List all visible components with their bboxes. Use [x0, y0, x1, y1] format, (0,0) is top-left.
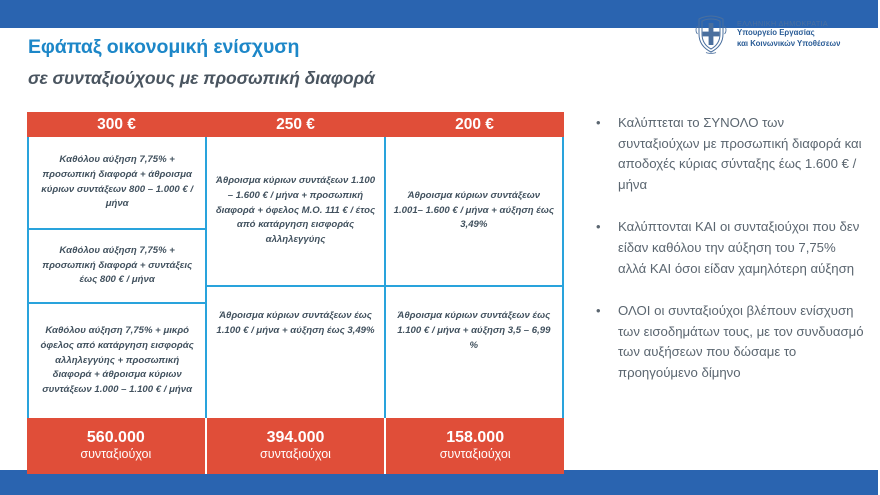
table-column-200: Άθροισμα κύριων συντάξεων 1.001– 1.600 €… [386, 137, 562, 418]
list-item-text: Καλύπτεται το ΣΥΝΟΛΟ των συνταξιούχων με… [618, 113, 866, 195]
table-footer-count-200: 158.000 συνταξιούχοι [386, 418, 564, 474]
pensioner-count: 560.000 [87, 429, 145, 447]
pensioner-label: συνταξιούχοι [80, 447, 151, 463]
table-cell: Άθροισμα κύριων συντάξεων 1.001– 1.600 €… [386, 137, 562, 287]
table-body: Καθόλου αύξηση 7,75% + προσωπική διαφορά… [27, 137, 564, 418]
page-subtitle: σε συνταξιούχους με προσωπική διαφορά [28, 68, 375, 89]
pensioner-count: 394.000 [267, 429, 325, 447]
bullet-marker-icon: • [596, 217, 618, 279]
list-item: • ΟΛΟΙ οι συνταξιούχοι βλέπουν ενίσχυση … [596, 301, 866, 383]
table-header-amount-300: 300 € [27, 112, 206, 137]
logo-line-ministry-cont: και Κοινωνικών Υποθέσεων [737, 39, 840, 49]
table-cell: Άθροισμα κύριων συντάξεων έως 1.100 € / … [386, 287, 562, 418]
pensioner-label: συνταξιούχοι [440, 447, 511, 463]
table-column-250: Άθροισμα κύριων συντάξεων 1.100 – 1.600 … [207, 137, 385, 418]
bullet-marker-icon: • [596, 301, 618, 383]
table-header-amount-200: 200 € [385, 112, 564, 137]
greek-coat-of-arms-icon [694, 14, 728, 54]
table-footer-count-250: 394.000 συνταξιούχοι [207, 418, 387, 474]
bullet-marker-icon: • [596, 113, 618, 195]
table-cell: Άθροισμα κύριων συντάξεων έως 1.100 € / … [207, 287, 383, 418]
list-item-text: Καλύπτονται ΚΑΙ οι συνταξιούχοι που δεν … [618, 217, 866, 279]
table-footer-count-300: 560.000 συνταξιούχοι [27, 418, 207, 474]
list-item-text: ΟΛΟΙ οι συνταξιούχοι βλέπουν ενίσχυση τω… [618, 301, 866, 383]
table-header-amount-250: 250 € [206, 112, 385, 137]
table-cell: Καθόλου αύξηση 7,75% + προσωπική διαφορά… [29, 137, 205, 230]
logo-line-ministry: Υπουργείο Εργασίας [737, 28, 840, 38]
pensioner-count: 158.000 [446, 429, 504, 447]
table-header-row: 300 € 250 € 200 € [27, 112, 564, 137]
key-points-list: • Καλύπτεται το ΣΥΝΟΛΟ των συνταξιούχων … [596, 113, 866, 406]
logo-line-republic: ΕΛΛΗΝΙΚΗ ΔΗΜΟΚΡΑΤΙΑ [737, 19, 840, 29]
table-cell: Καθόλου αύξηση 7,75% + προσωπική διαφορά… [29, 230, 205, 304]
page-title: Εφάπαξ οικονομική ενίσχυση [28, 36, 299, 59]
table-footer-row: 560.000 συνταξιούχοι 394.000 συνταξιούχο… [27, 418, 564, 474]
list-item: • Καλύπτεται το ΣΥΝΟΛΟ των συνταξιούχων … [596, 113, 866, 195]
ministry-logo: ΕΛΛΗΝΙΚΗ ΔΗΜΟΚΡΑΤΙΑ Υπουργείο Εργασίας κ… [694, 14, 840, 54]
table-cell: Καθόλου αύξηση 7,75% + μικρό όφελος από … [29, 304, 205, 418]
benefit-table: 300 € 250 € 200 € Καθόλου αύξηση 7,75% +… [27, 112, 564, 474]
list-item: • Καλύπτονται ΚΑΙ οι συνταξιούχοι που δε… [596, 217, 866, 279]
table-cell: Άθροισμα κύριων συντάξεων 1.100 – 1.600 … [207, 137, 383, 287]
pensioner-label: συνταξιούχοι [260, 447, 331, 463]
table-column-300: Καθόλου αύξηση 7,75% + προσωπική διαφορά… [29, 137, 207, 418]
